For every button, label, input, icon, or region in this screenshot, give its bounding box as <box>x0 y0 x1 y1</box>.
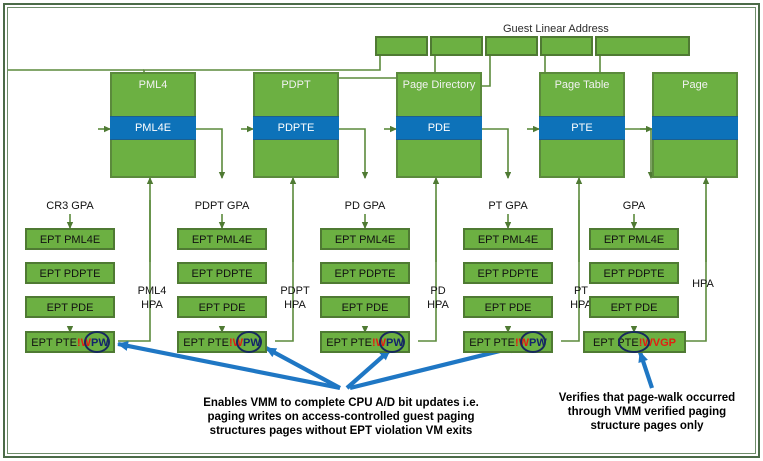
ept-step-3-0[interactable]: EPT PML4E <box>463 228 553 250</box>
hpa-label-1-line1: PDPT <box>265 285 325 297</box>
annotation-left-line-1: paging writes on access-controlled guest… <box>168 410 514 424</box>
hpa-label-2-line1: PD <box>408 285 468 297</box>
annotation-left-line-0: Enables VMM to complete CPU A/D bit upda… <box>168 396 514 410</box>
highlight-circle-1 <box>236 331 262 353</box>
ept-step-2-1[interactable]: EPT PDPTE <box>320 262 410 284</box>
ept-pte-2-prefix: EPT PTE <box>326 333 372 353</box>
ept-step-3-1[interactable]: EPT PDPTE <box>463 262 553 284</box>
gla-field-4[interactable] <box>595 36 690 56</box>
gpa-label-1: PDPT GPA <box>172 200 272 212</box>
highlight-circle-0 <box>84 331 110 353</box>
entry-pml4e[interactable]: PML4E <box>110 116 196 140</box>
paging-structure-page-title: Page <box>654 79 736 91</box>
hpa-label-1-line2: HPA <box>265 299 325 311</box>
paging-structure-pml4-title: PML4 <box>112 79 194 91</box>
ept-pte-4-flag-bits: VGP <box>653 333 676 353</box>
gpa-label-4: GPA <box>584 200 684 212</box>
paging-structure-page-directory[interactable]: Page Directory PDE <box>396 72 482 178</box>
entry-pdpte[interactable]: PDPTE <box>253 116 339 140</box>
ept-step-0-2[interactable]: EPT PDE <box>25 296 115 318</box>
gpa-label-2: PD GPA <box>315 200 415 212</box>
ept-step-3-2[interactable]: EPT PDE <box>463 296 553 318</box>
annotation-left-line-2: structures pages without EPT violation V… <box>168 424 514 438</box>
paging-structure-page[interactable]: Page <box>652 72 738 178</box>
annotation-left-note: Enables VMM to complete CPU A/D bit upda… <box>168 396 514 438</box>
gla-field-0[interactable] <box>375 36 428 56</box>
annotation-right-line-0: Verifies that page-walk occurred <box>536 391 758 405</box>
highlight-circle-3 <box>520 331 546 353</box>
gpa-label-3: PT GPA <box>458 200 558 212</box>
hpa-label-0-line2: HPA <box>122 299 182 311</box>
highlight-circle-4 <box>618 331 650 353</box>
annotation-right-line-1: through VMM verified paging <box>536 405 758 419</box>
entry-pde[interactable]: PDE <box>396 116 482 140</box>
ept-step-4-2[interactable]: EPT PDE <box>589 296 679 318</box>
hpa-label-4-line1: HPA <box>678 278 728 290</box>
ept-step-1-0[interactable]: EPT PML4E <box>177 228 267 250</box>
annotation-right-note: Verifies that page-walk occurred through… <box>536 391 758 433</box>
ept-pte-1-prefix: EPT PTE <box>183 333 229 353</box>
highlight-circle-2 <box>379 331 405 353</box>
ept-step-2-0[interactable]: EPT PML4E <box>320 228 410 250</box>
paging-structure-pdpt[interactable]: PDPT PDPTE <box>253 72 339 178</box>
ept-step-1-1[interactable]: EPT PDPTE <box>177 262 267 284</box>
ept-step-4-0[interactable]: EPT PML4E <box>589 228 679 250</box>
entry-pte[interactable]: PTE <box>539 116 625 140</box>
ept-step-0-0[interactable]: EPT PML4E <box>25 228 115 250</box>
paging-structure-page-directory-title: Page Directory <box>398 79 480 91</box>
paging-structure-page-table[interactable]: Page Table PTE <box>539 72 625 178</box>
ept-step-1-2[interactable]: EPT PDE <box>177 296 267 318</box>
ept-pte-3-prefix: EPT PTE <box>469 333 515 353</box>
entry-page-offset[interactable] <box>652 116 738 140</box>
ept-step-0-1[interactable]: EPT PDPTE <box>25 262 115 284</box>
gpa-label-0: CR3 GPA <box>20 200 120 212</box>
gla-field-2[interactable] <box>485 36 538 56</box>
paging-structure-pml4[interactable]: PML4 PML4E <box>110 72 196 178</box>
hpa-label-0-line1: PML4 <box>122 285 182 297</box>
ept-step-2-2[interactable]: EPT PDE <box>320 296 410 318</box>
hpa-label-2-line2: HPA <box>408 299 468 311</box>
paging-structure-pdpt-title: PDPT <box>255 79 337 91</box>
ept-step-4-1[interactable]: EPT PDPTE <box>589 262 679 284</box>
diagram-canvas: Guest Linear Address PML4 PML4E PDPT PDP… <box>0 0 763 461</box>
gla-field-3[interactable] <box>540 36 593 56</box>
annotation-right-line-2: structure pages only <box>536 419 758 433</box>
gla-field-1[interactable] <box>430 36 483 56</box>
ept-pte-0-prefix: EPT PTE <box>31 333 77 353</box>
guest-linear-address-label: Guest Linear Address <box>503 23 609 35</box>
paging-structure-page-table-title: Page Table <box>541 79 623 91</box>
